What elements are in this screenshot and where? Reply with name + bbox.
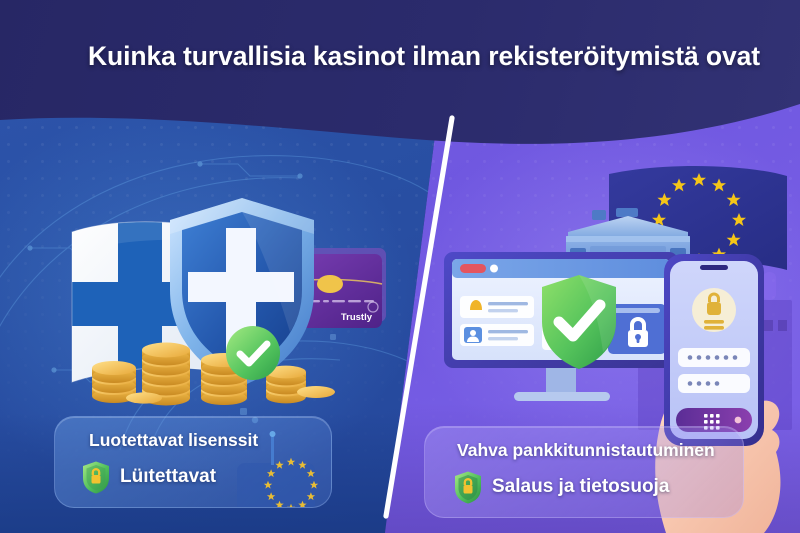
gold-coin-stacks [100,318,340,408]
card-brand-text: Trustly [341,312,373,323]
infographic-canvas: BANK [0,0,800,533]
shield-lock-icon [81,460,111,494]
lock-avatar-icon [692,288,736,332]
badge-right-title: Vahva pankkitunnistautuminen [457,440,721,461]
page-title: Kuinka turvallisia kasinot ilman rekiste… [40,38,760,76]
green-shield-check-icon [536,272,622,372]
badge-right-subtitle: Salaus ja tietosuoja [492,476,669,498]
password-field-1[interactable] [678,348,750,367]
badge-strong-bank-auth[interactable]: Vahva pankkitunnistautuminen Salaus ja t… [424,426,744,518]
eu-stars-circle-decoration [219,431,332,508]
shield-lock-icon [453,470,483,504]
mobile-phone [662,252,766,452]
browser-close-pill [460,264,486,273]
green-check-circle [224,324,282,382]
badge-right-subtitle-row: Salaus ja tietosuoja [453,470,721,504]
badge-left-subtitle: Lüıtettavat [120,466,216,488]
password-field-2[interactable] [678,374,750,393]
badge-trusted-licenses[interactable]: Luotettavat lisenssit Lüıtettavat [54,416,332,508]
